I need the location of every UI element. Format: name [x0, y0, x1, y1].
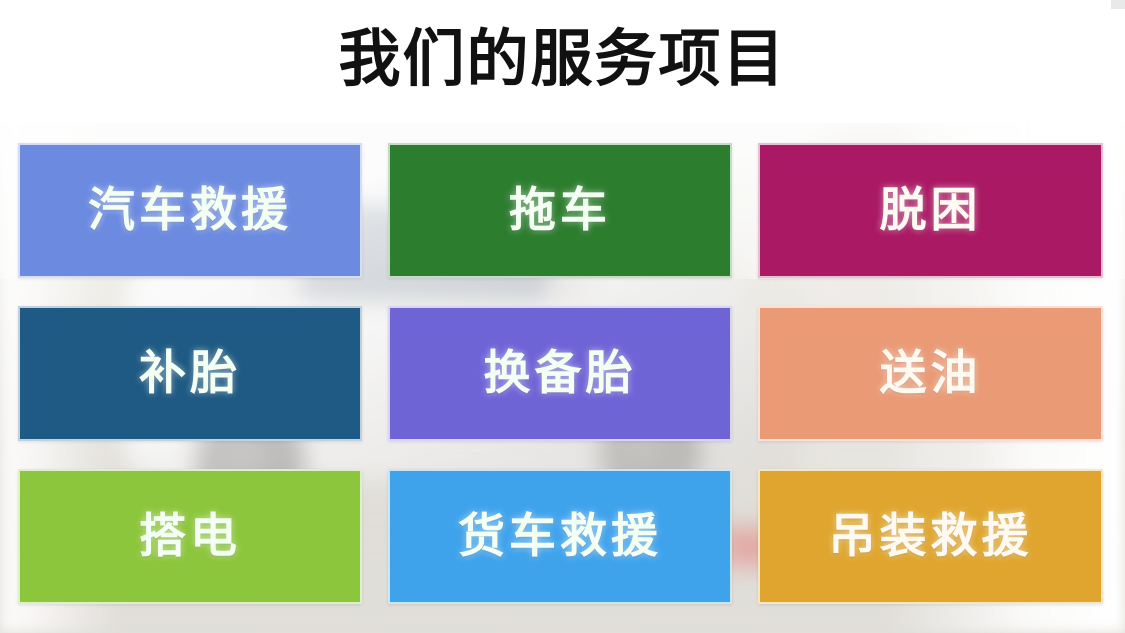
service-tile-fuel-delivery[interactable]: 送油 [758, 306, 1103, 441]
service-tile-label: 换备胎 [484, 348, 637, 400]
service-tile-jump-start[interactable]: 搭电 [18, 469, 362, 604]
service-tile-crane-rescue[interactable]: 吊装救援 [758, 469, 1103, 604]
service-tile-label: 补胎 [139, 348, 241, 400]
header-band: 我们的服务项目 [0, 0, 1125, 123]
service-tile-extrication[interactable]: 脱困 [758, 143, 1103, 278]
service-tile-label: 送油 [880, 348, 982, 400]
service-tile-truck-rescue[interactable]: 货车救援 [388, 469, 732, 604]
service-tile-car-rescue[interactable]: 汽车救援 [18, 143, 362, 278]
service-tile-label: 货车救援 [458, 511, 662, 563]
service-poster: 我们的服务项目 汽车救援 拖车 脱困 补胎 换备胎 送油 搭电 货车救援 吊装救… [0, 0, 1125, 633]
header-corner-mark [1111, 0, 1125, 9]
service-tile-label: 吊装救援 [829, 511, 1033, 563]
service-tile-grid: 汽车救援 拖车 脱困 补胎 换备胎 送油 搭电 货车救援 吊装救援 [18, 143, 1107, 608]
page-title: 我们的服务项目 [0, 22, 1125, 96]
service-tile-label: 搭电 [139, 511, 241, 563]
service-tile-tire-repair[interactable]: 补胎 [18, 306, 362, 441]
service-tile-tow-truck[interactable]: 拖车 [388, 143, 732, 278]
service-tile-label: 汽车救援 [88, 185, 292, 237]
service-tile-spare-tire-change[interactable]: 换备胎 [388, 306, 732, 441]
service-tile-label: 脱困 [880, 185, 982, 237]
service-tile-label: 拖车 [509, 185, 611, 237]
